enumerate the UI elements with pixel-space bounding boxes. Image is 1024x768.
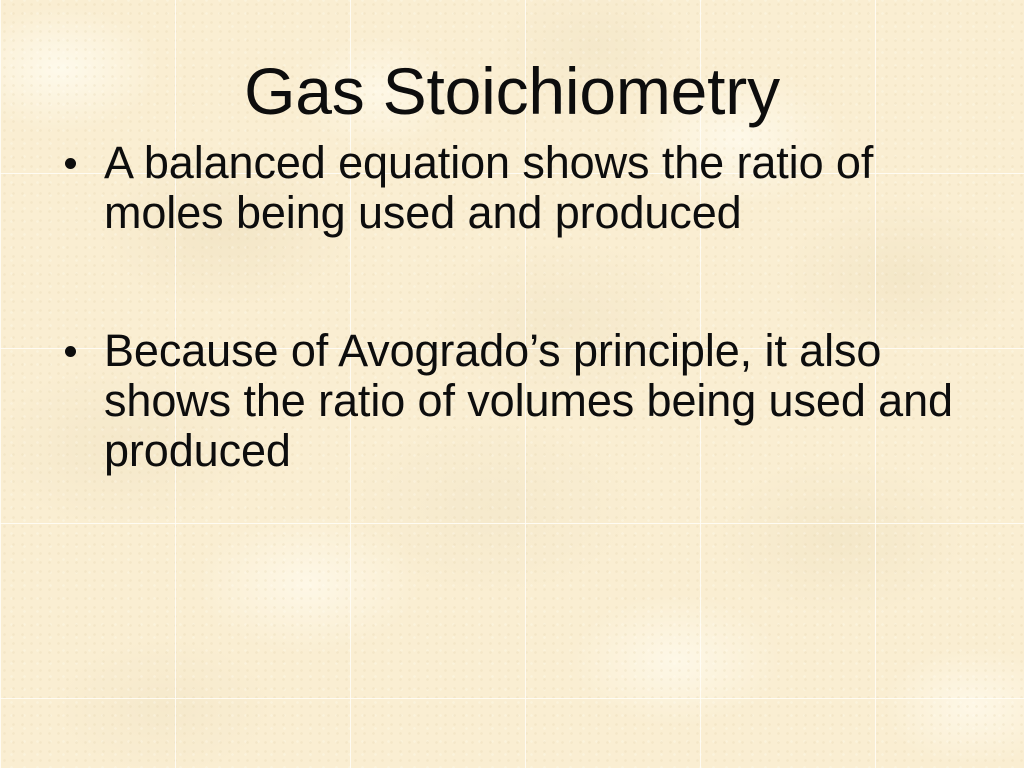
- presentation-slide: Gas Stoichiometry A balanced equation sh…: [0, 0, 1024, 768]
- bullet-dot-icon: [65, 346, 76, 357]
- list-item: A balanced equation shows the ratio of m…: [62, 138, 992, 238]
- page-title: Gas Stoichiometry: [0, 58, 1024, 124]
- list-item-spacer: [62, 238, 992, 326]
- bullet-list: A balanced equation shows the ratio of m…: [62, 138, 992, 476]
- slide-content: Gas Stoichiometry A balanced equation sh…: [0, 0, 1024, 768]
- slide-body: A balanced equation shows the ratio of m…: [62, 138, 992, 476]
- bullet-text: A balanced equation shows the ratio of m…: [104, 137, 873, 238]
- list-item: Because of Avogrado’s principle, it also…: [62, 326, 992, 476]
- bullet-text: Because of Avogrado’s principle, it also…: [104, 325, 953, 476]
- bullet-dot-icon: [65, 158, 76, 169]
